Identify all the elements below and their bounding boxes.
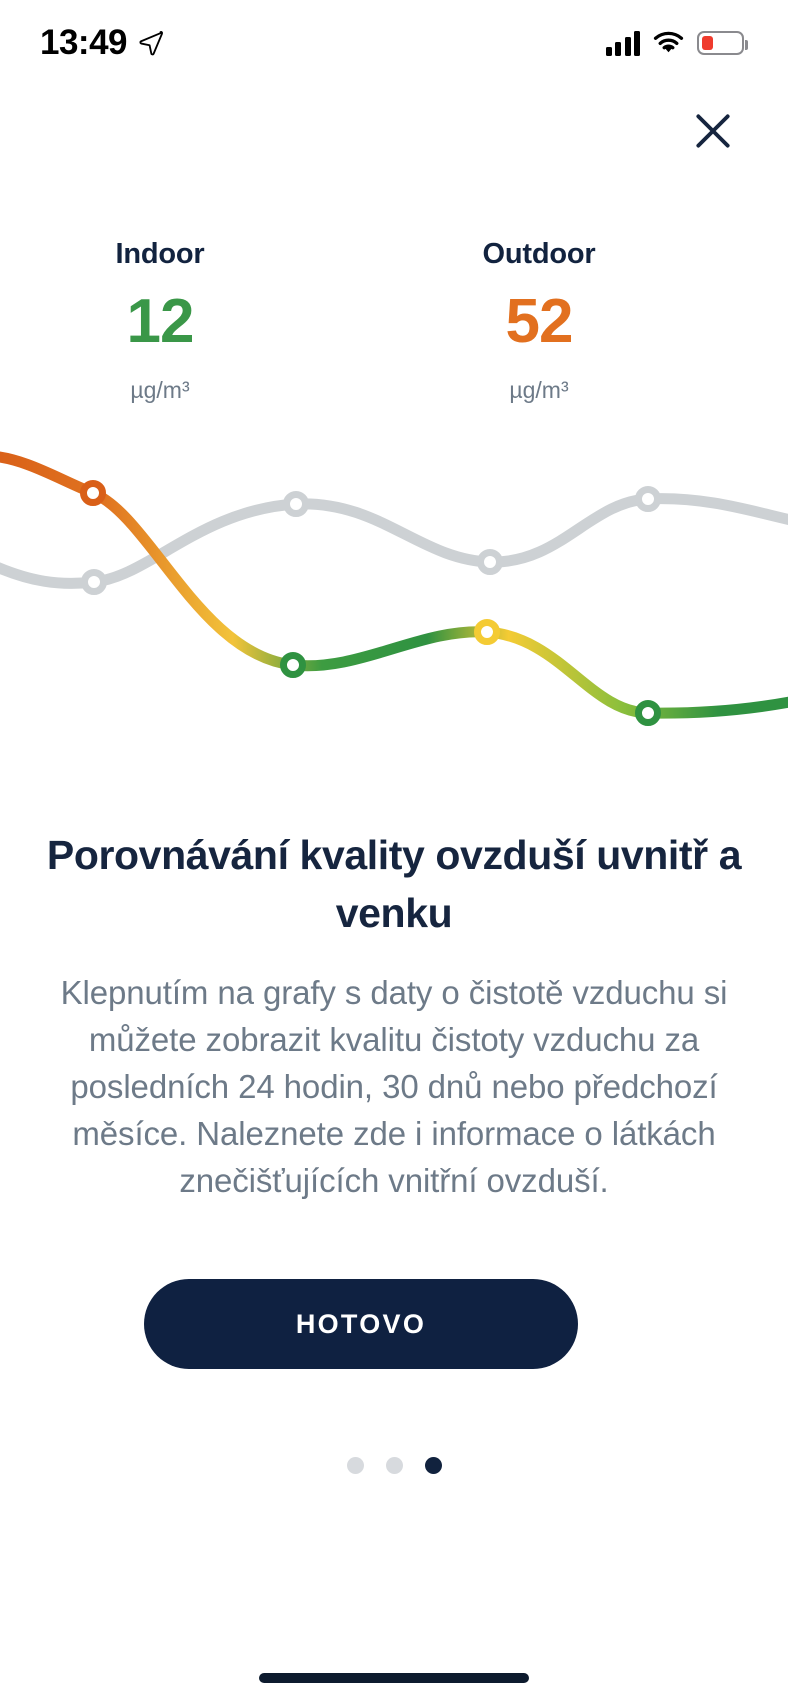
chart-marker [287, 495, 306, 514]
done-button[interactable]: HOTOVO [144, 1279, 578, 1369]
page-dot-1[interactable] [347, 1457, 364, 1474]
page-description: Klepnutím na grafy s daty o čistotě vzdu… [44, 970, 744, 1204]
status-bar-left: 13:49 [40, 25, 164, 62]
reading-indoor-value: 12 [0, 291, 320, 353]
chart-marker [284, 656, 303, 675]
page-indicator [0, 1457, 788, 1474]
chart-marker [639, 490, 658, 509]
air-quality-chart[interactable] [0, 430, 788, 760]
chart-marker [478, 623, 497, 642]
chart-marker [85, 573, 104, 592]
close-button[interactable] [682, 100, 744, 162]
chart-svg [0, 430, 788, 760]
location-arrow-icon [138, 30, 164, 56]
close-icon [691, 109, 735, 153]
battery-low-icon [697, 31, 744, 55]
status-bar-clock: 13:49 [40, 25, 127, 62]
page-title: Porovnávání kvality ovzduší uvnitř a ven… [44, 826, 744, 942]
status-bar-right [606, 31, 745, 56]
chart-marker [481, 553, 500, 572]
reading-outdoor-label: Outdoor [394, 240, 684, 269]
cellular-signal-icon [606, 31, 641, 56]
reading-indoor-label: Indoor [0, 240, 320, 269]
page-dot-3[interactable] [425, 1457, 442, 1474]
readings-row: Indoor 12 µg/m³ Outdoor 52 µg/m³ [0, 240, 788, 402]
wifi-icon [653, 31, 684, 55]
reading-outdoor-value: 52 [394, 291, 684, 353]
reading-indoor: Indoor 12 µg/m³ [0, 240, 394, 402]
copy-block: Porovnávání kvality ovzduší uvnitř a ven… [0, 826, 788, 1205]
home-indicator[interactable] [259, 1673, 529, 1683]
page-dot-2[interactable] [386, 1457, 403, 1474]
onboarding-screen: 13:49 Indoor 12 µg/m³ [0, 0, 788, 1707]
chart-marker [84, 484, 103, 503]
status-bar: 13:49 [0, 0, 788, 86]
reading-outdoor: Outdoor 52 µg/m³ [394, 240, 788, 402]
reading-indoor-unit: µg/m³ [0, 379, 320, 402]
reading-outdoor-unit: µg/m³ [394, 379, 684, 402]
chart-marker [639, 704, 658, 723]
